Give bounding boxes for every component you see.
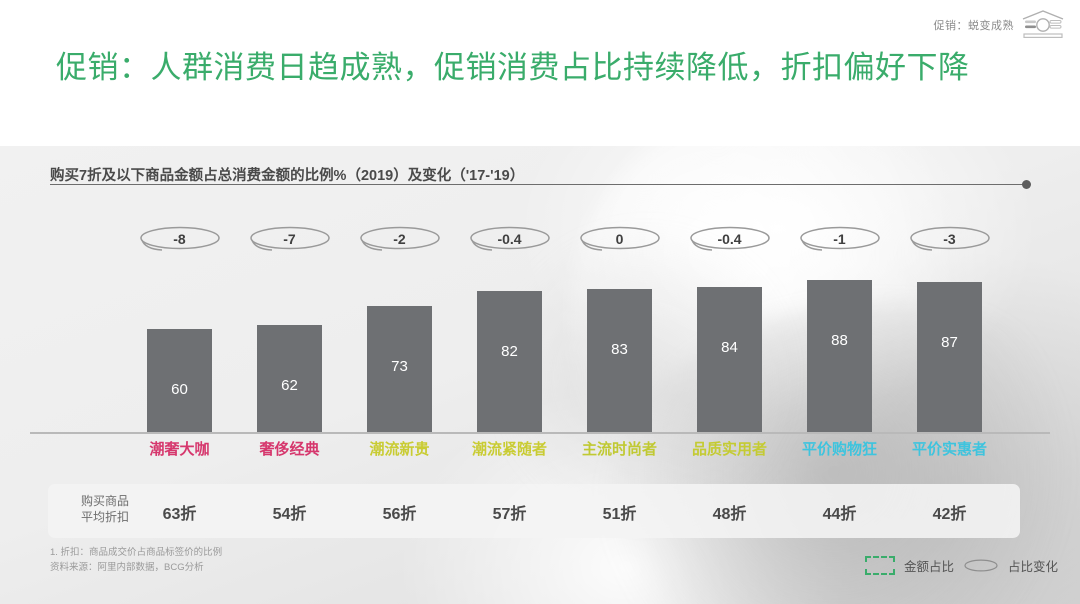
chart-legend: 金额占比 占比变化 xyxy=(865,556,1058,575)
discount-cell: 56折 xyxy=(345,500,455,524)
slide-body: 购买7折及以下商品金额占总消费金额的比例%（2019）及变化（'17-'19） … xyxy=(0,146,1080,604)
category-label: 平价实惠者 xyxy=(885,438,1015,459)
slide: 促销：蜕变成熟 促销：人群消费日趋成熟，促销消费占比持续降低，折扣偏好下降 购买… xyxy=(0,0,1080,604)
change-badge-value: 0 xyxy=(616,231,624,247)
bar: 60 xyxy=(147,329,212,432)
change-badge: -7 xyxy=(245,224,335,254)
category-label-row: 潮奢大咖奢侈经典潮流新贵潮流紧随者主流时尚者品质实用者平价购物狂平价实惠者 xyxy=(0,438,1080,466)
discount-cell: 42折 xyxy=(895,500,1005,524)
bar-value-label: 83 xyxy=(587,341,652,358)
bar-value-label: 88 xyxy=(807,332,872,349)
change-badge: -1 xyxy=(795,224,885,254)
change-badge-value: -0.4 xyxy=(717,231,741,247)
chart-subtitle: 购买7折及以下商品金额占总消费金额的比例%（2019）及变化（'17-'19） xyxy=(50,164,524,185)
legend-label-amount-share: 金额占比 xyxy=(904,556,954,575)
bar: 87 xyxy=(917,282,982,432)
legend-label-share-change: 占比变化 xyxy=(1008,556,1058,575)
change-badge: 0 xyxy=(575,224,665,254)
brand-mark: 促销：蜕变成熟 xyxy=(934,10,1067,40)
discount-cell: 57折 xyxy=(455,500,565,524)
brand-label: 促销：蜕变成熟 xyxy=(934,17,1015,33)
pavilion-logo-icon xyxy=(1020,10,1066,40)
change-badge: -0.4 xyxy=(685,224,775,254)
legend-swatch-amount-share xyxy=(865,556,895,575)
bar: 62 xyxy=(257,325,322,432)
bar: 83 xyxy=(587,289,652,432)
footnotes: 1. 折扣：商品成交价占商品标签价的比例 资料来源：阿里内部数据，BCG分析 xyxy=(50,546,222,575)
change-badge-value: -0.4 xyxy=(497,231,521,247)
bar-chart: 6062738283848887 xyxy=(0,256,1080,432)
average-discount-table: 购买商品 平均折扣 63折54折56折57折51折48折44折42折 xyxy=(48,484,1020,538)
change-badge-value: -3 xyxy=(943,231,955,247)
change-badge: -2 xyxy=(355,224,445,254)
bar-value-label: 84 xyxy=(697,339,762,356)
subtitle-divider-dot xyxy=(1022,180,1031,189)
chart-baseline xyxy=(30,432,1050,434)
bar-value-label: 82 xyxy=(477,343,542,360)
discount-cell: 48折 xyxy=(675,500,785,524)
legend-oval-icon xyxy=(963,558,999,573)
change-badge: -8 xyxy=(135,224,225,254)
change-badge-value: -7 xyxy=(283,231,295,247)
change-badge-value: -2 xyxy=(393,231,405,247)
bar-value-label: 73 xyxy=(367,358,432,375)
bar: 82 xyxy=(477,291,542,432)
page-title: 促销：人群消费日趋成熟，促销消费占比持续降低，折扣偏好下降 xyxy=(56,48,1016,88)
bar-value-label: 62 xyxy=(257,377,322,394)
bar-value-label: 60 xyxy=(147,381,212,398)
change-badge: -3 xyxy=(905,224,995,254)
bar: 88 xyxy=(807,280,872,432)
subtitle-divider xyxy=(50,184,1028,185)
change-badge-value: -8 xyxy=(173,231,185,247)
change-badge-value: -1 xyxy=(833,231,845,247)
footnote-line-2: 资料来源：阿里内部数据，BCG分析 xyxy=(50,561,222,576)
bar-value-label: 87 xyxy=(917,334,982,351)
discount-cell: 54折 xyxy=(235,500,345,524)
discount-cell: 63折 xyxy=(125,500,235,524)
slide-header: 促销：蜕变成熟 促销：人群消费日趋成熟，促销消费占比持续降低，折扣偏好下降 xyxy=(0,0,1080,146)
bar: 73 xyxy=(367,306,432,432)
footnote-line-1: 1. 折扣：商品成交价占商品标签价的比例 xyxy=(50,546,222,561)
discount-cell: 51折 xyxy=(565,500,675,524)
discount-cell: 44折 xyxy=(785,500,895,524)
bar: 84 xyxy=(697,287,762,432)
change-badge: -0.4 xyxy=(465,224,555,254)
